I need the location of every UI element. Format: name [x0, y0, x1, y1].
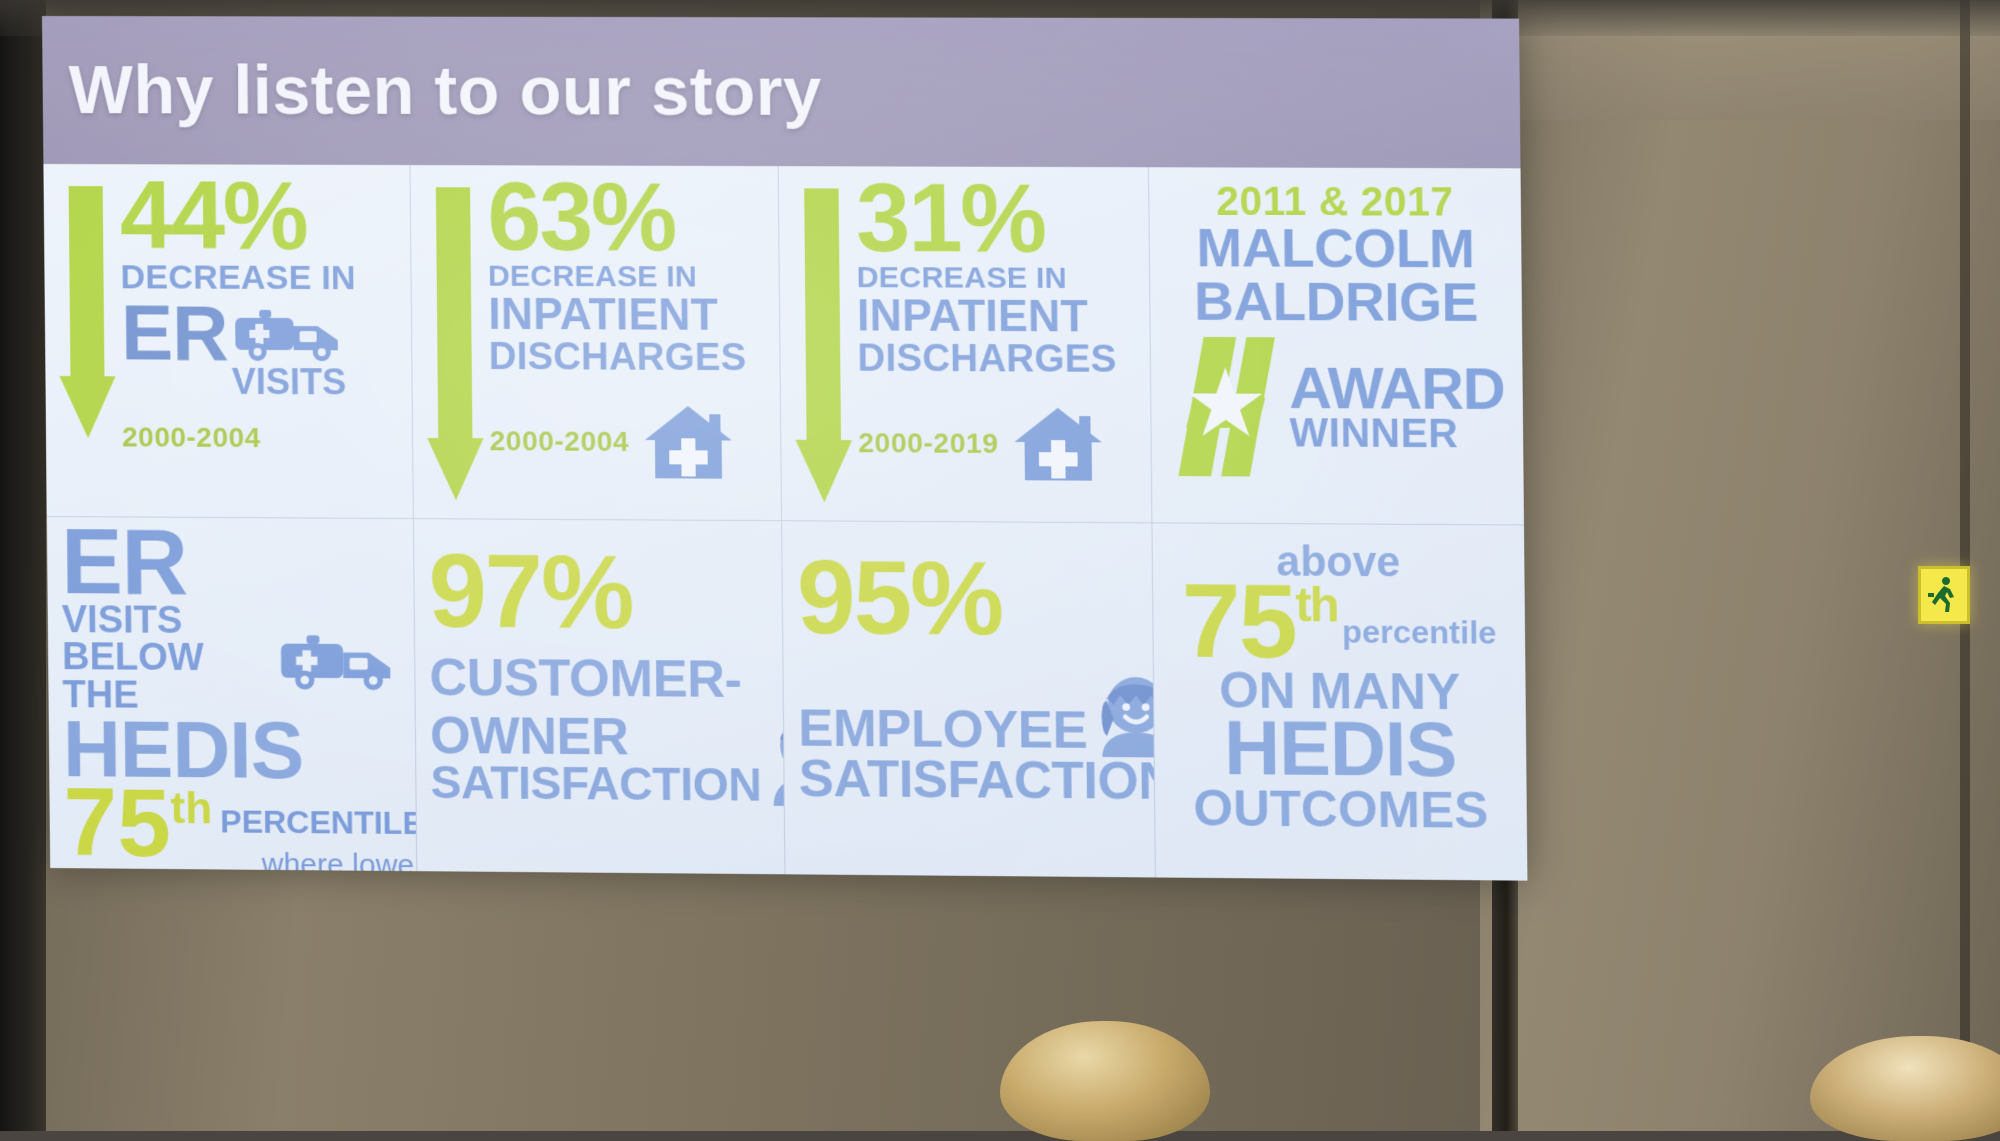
- hospital-house-icon: [1012, 405, 1104, 482]
- stat-label-line: INPATIENT: [488, 293, 765, 339]
- stat-card-inpatient-2019: 31% DECREASE IN INPATIENT DISCHARGES 200…: [778, 166, 1152, 522]
- percentile-label: percentile: [1342, 614, 1497, 669]
- page-title: Why listen to our story: [42, 56, 822, 126]
- stat-percent: 44%: [120, 172, 397, 261]
- award-name-line: MALCOLM: [1164, 222, 1507, 277]
- stat-card-hedis-outcomes: above 75th percentile ON MANY HEDIS OUTC…: [1151, 522, 1527, 880]
- stat-card-er-hedis-percentile: ER VISITS BELOW THE: [47, 516, 416, 871]
- stat-number: 75th: [1181, 578, 1338, 667]
- stat-label-line: DISCHARGES: [489, 338, 766, 378]
- stat-years: 2000-2004: [122, 422, 398, 455]
- exit-sign: [1918, 566, 1970, 624]
- down-arrow-icon: [793, 188, 853, 502]
- stat-card-er-visits: 44% DECREASE IN ER: [43, 164, 412, 518]
- stats-grid: 44% DECREASE IN ER: [43, 164, 1527, 881]
- award-name-line: BALDRIGE: [1164, 275, 1507, 330]
- down-arrow-icon: [58, 186, 116, 438]
- stat-label-line: DISCHARGES: [857, 339, 1136, 379]
- slide-header: Why listen to our story: [42, 16, 1521, 168]
- stat-label-line: SATISFACTION: [430, 761, 761, 807]
- award-label: AWARD: [1289, 362, 1505, 416]
- stat-card-baldrige-award: 2011 & 2017 MALCOLM BALDRIGE AWARD: [1148, 167, 1524, 524]
- baldrige-star-logo: [1168, 331, 1290, 483]
- hospital-house-icon: [643, 403, 735, 480]
- stat-percent: 95%: [797, 551, 1139, 647]
- stat-label-line: CUSTOMER-: [429, 653, 768, 705]
- stat-number: 75th: [63, 784, 212, 864]
- screen-frame-left: [0, 0, 46, 1131]
- stat-percent: 97%: [428, 545, 768, 641]
- girl-face-icon: [1093, 668, 1155, 757]
- stat-percent: 63%: [487, 173, 764, 263]
- down-arrow-icon: [425, 187, 484, 500]
- boy-face-icon: [767, 705, 785, 806]
- ordinal-suffix: th: [1295, 579, 1338, 633]
- stat-label-line: EMPLOYEE: [798, 705, 1088, 757]
- stat-label-line: SATISFACTION: [798, 754, 1139, 806]
- audience-head: [1000, 1021, 1210, 1141]
- stat-keyword: ER: [61, 523, 400, 604]
- stat-label-line: OUTCOMES: [1169, 784, 1512, 835]
- stat-label-line: VISITS: [62, 602, 268, 641]
- stat-keyword: ER: [121, 297, 228, 368]
- stat-percent: 31%: [856, 174, 1135, 264]
- note-line: where lower: [221, 849, 417, 872]
- stat-keyword: HEDIS: [1169, 715, 1513, 787]
- percentile-label: PERCENTILE: [220, 804, 416, 843]
- slide-surface: Why listen to our story 44% DECREASE IN …: [42, 16, 1527, 881]
- ambulance-icon: [233, 302, 346, 365]
- stat-years: 2000-2019: [858, 427, 999, 460]
- ambulance-icon: [277, 626, 400, 693]
- stat-card-inpatient-2004: 63% DECREASE IN INPATIENT DISCHARGES 200…: [409, 165, 781, 520]
- ordinal-suffix: th: [170, 784, 212, 833]
- stat-label-line: INPATIENT: [857, 294, 1136, 340]
- stat-card-employee-satisfaction: 95% EMPLOYEE: [781, 520, 1155, 877]
- exit-running-person-icon: [1927, 575, 1961, 615]
- stat-years: 2000-2004: [489, 425, 629, 458]
- projection-screen: Why listen to our story 44% DECREASE IN …: [42, 16, 1527, 881]
- stat-card-customer-owner-satisfaction: 97% CUSTOMER- OWNER SATISFACTION: [413, 518, 785, 874]
- award-years: 2011 & 2017: [1163, 181, 1506, 223]
